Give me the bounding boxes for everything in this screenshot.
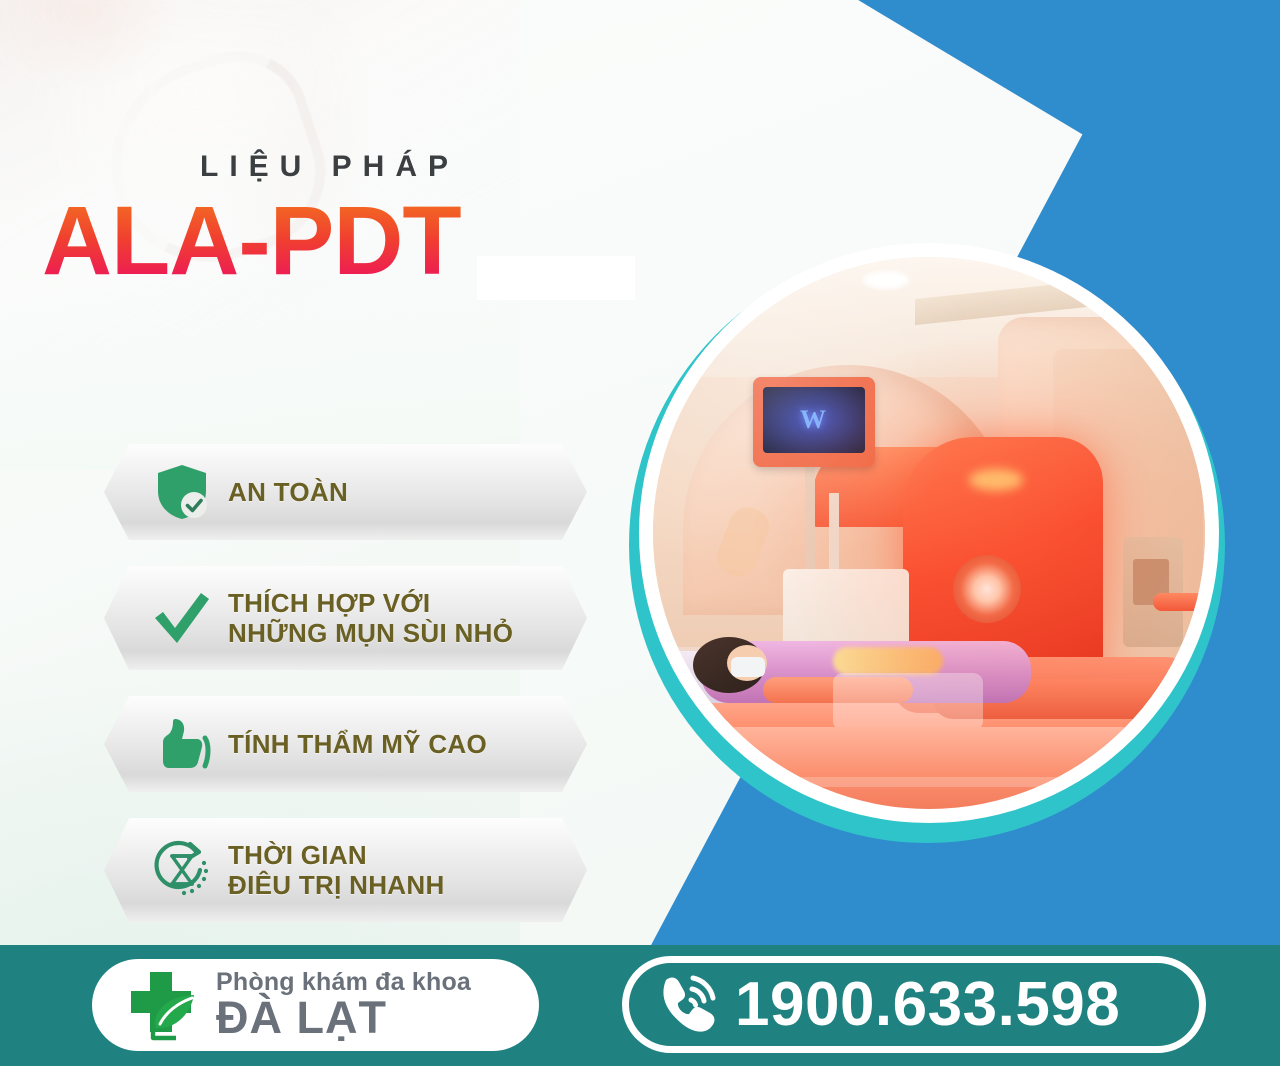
- feature-chip-fast-time[interactable]: THỜI GIAN ĐIÊU TRỊ NHANH: [104, 818, 587, 922]
- clock-hourglass-icon: [136, 839, 228, 901]
- shield-check-icon: [136, 463, 228, 521]
- clinic-name-block: Phòng khám đa khoa ĐÀ LẠT: [216, 969, 471, 1041]
- feature-chip-aesthetic[interactable]: TÍNH THẨM MỸ CAO: [104, 696, 587, 792]
- treatment-photo: W: [653, 257, 1205, 809]
- feature-line1: THỜI GIAN: [228, 840, 445, 870]
- feature-line1: AN TOÀN: [228, 477, 348, 507]
- feature-label: THỜI GIAN ĐIÊU TRỊ NHANH: [228, 840, 445, 900]
- page-title: ALA-PDT: [42, 192, 461, 289]
- feature-line2: ĐIÊU TRỊ NHANH: [228, 870, 445, 900]
- check-mark-icon: [136, 590, 228, 646]
- clinic-logo-pill[interactable]: Phòng khám đa khoa ĐÀ LẠT: [92, 959, 539, 1051]
- clinic-title: ĐÀ LẠT: [216, 994, 471, 1041]
- feature-list: AN TOÀN THÍCH HỢP VỚI NHỮNG MỤN SÙI NHỎ: [104, 444, 594, 948]
- feature-label: AN TOÀN: [228, 477, 348, 507]
- hotline-number: 1900.633.598: [735, 974, 1120, 1036]
- feature-line2: NHỮNG MỤN SÙI NHỎ: [228, 618, 513, 648]
- footer-bar: Phòng khám đa khoa ĐÀ LẠT 1900.633.598: [0, 945, 1280, 1066]
- thumbs-up-icon: [136, 716, 228, 772]
- white-patch-overlay: [477, 256, 635, 300]
- feature-label: TÍNH THẨM MỸ CAO: [228, 729, 487, 759]
- poster-canvas: W LIỆU PHÁP ALA-PDT: [0, 0, 1280, 1066]
- feature-label: THÍCH HỢP VỚI NHỮNG MỤN SÙI NHỎ: [228, 588, 513, 648]
- hotline-button[interactable]: 1900.633.598: [622, 956, 1206, 1053]
- feature-line1: TÍNH THẨM MỸ CAO: [228, 729, 487, 759]
- feature-chip-suitable[interactable]: THÍCH HỢP VỚI NHỮNG MỤN SÙI NHỎ: [104, 566, 587, 670]
- kicker-text: LIỆU PHÁP: [200, 150, 459, 184]
- green-cross-leaf-icon: [114, 968, 210, 1042]
- photo-warm-overlay: [653, 257, 1205, 809]
- phone-ringing-icon: [645, 972, 729, 1038]
- feature-chip-safety[interactable]: AN TOÀN: [104, 444, 587, 540]
- feature-line1: THÍCH HỢP VỚI: [228, 588, 513, 618]
